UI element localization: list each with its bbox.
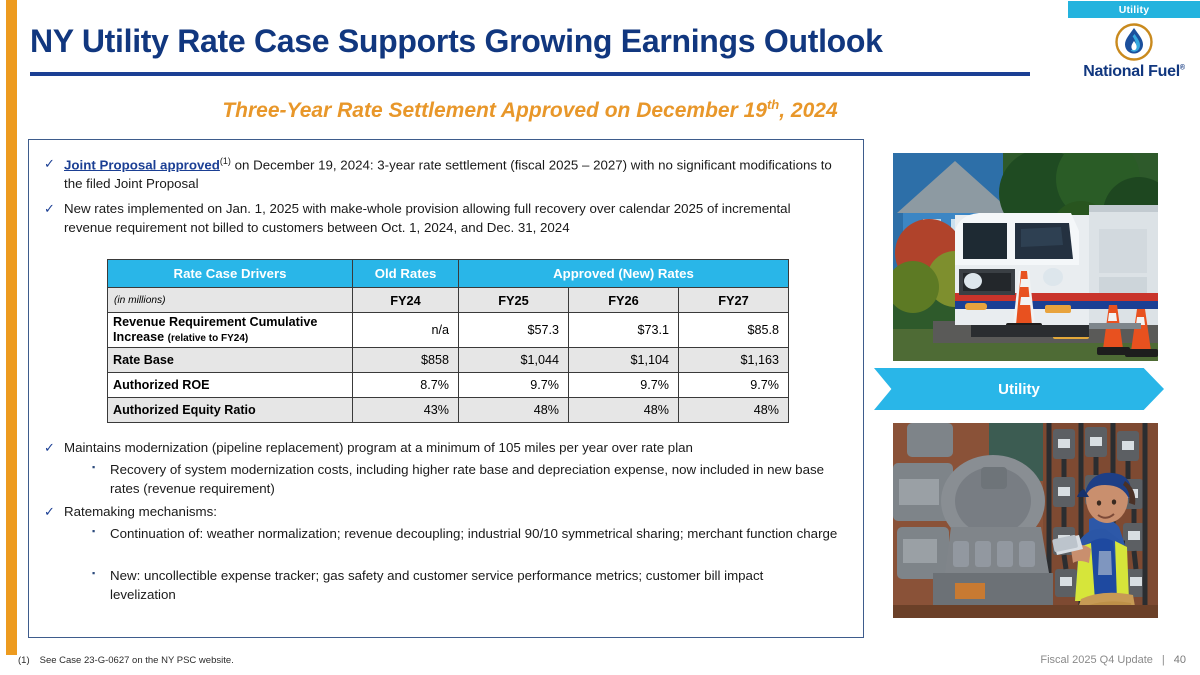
cell-equity-fy27: 48%: [679, 398, 789, 423]
table-row: Revenue Requirement Cumulative Increase …: [108, 313, 789, 348]
utility-segment-label: Utility: [998, 381, 1040, 398]
footer-right: Fiscal 2025 Q4 Update | 40: [1040, 654, 1186, 666]
square-bullet-icon: ▪: [92, 567, 110, 581]
subbullet-continuation-text: Continuation of: weather normalization; …: [110, 525, 837, 544]
row-label-authorized-roe: Authorized ROE: [108, 373, 353, 398]
section-tab-utility[interactable]: Utility: [1068, 1, 1200, 18]
row-label-rate-base: Rate Base: [108, 348, 353, 373]
cell-ratebase-fy26: $1,104: [569, 348, 679, 373]
units-label: (in millions): [108, 288, 353, 313]
bullet-ratemaking-mechanisms: ✓ Ratemaking mechanisms:: [44, 503, 844, 522]
company-logo: National Fuel®: [1070, 22, 1198, 88]
bullet-ratemaking-mechanisms-text: Ratemaking mechanisms:: [64, 503, 217, 522]
header-rate-case-drivers: Rate Case Drivers: [108, 260, 353, 288]
square-bullet-icon: ▪: [92, 525, 110, 539]
title-underline: [30, 72, 1030, 76]
table-row: Rate Base $858 $1,044 $1,104 $1,163: [108, 348, 789, 373]
header-approved-new-rates: Approved (New) Rates: [459, 260, 789, 288]
header-old-rates: Old Rates: [353, 260, 459, 288]
footnote-marker: (1): [18, 655, 30, 666]
cell-revenue-fy25: $57.3: [459, 313, 569, 348]
header-fy27: FY27: [679, 288, 789, 313]
bullet-modernization-text: Maintains modernization (pipeline replac…: [64, 439, 693, 458]
rate-case-table: Rate Case Drivers Old Rates Approved (Ne…: [107, 259, 789, 423]
cell-ratebase-fy27: $1,163: [679, 348, 789, 373]
cell-revenue-fy26: $73.1: [569, 313, 679, 348]
slide: Utility National Fuel® NY Utility Rate C…: [0, 0, 1200, 675]
cell-roe-fy27: 9.7%: [679, 373, 789, 398]
footnote: (1) See Case 23-G-0627 on the NY PSC web…: [18, 655, 234, 666]
checkmark-icon: ✓: [44, 200, 64, 218]
row-label-equity-ratio: Authorized Equity Ratio: [108, 398, 353, 423]
table-group-header-row: Rate Case Drivers Old Rates Approved (Ne…: [108, 260, 789, 288]
footer-divider: |: [1162, 654, 1165, 666]
row-label-revenue-requirement: Revenue Requirement Cumulative Increase …: [108, 313, 353, 348]
bullet-new-rates: ✓ New rates implemented on Jan. 1, 2025 …: [44, 200, 834, 238]
deck-label: Fiscal 2025 Q4 Update: [1040, 654, 1153, 666]
bullet-joint-proposal: ✓ Joint Proposal approved(1) on December…: [44, 155, 844, 194]
logo-wordmark: National Fuel®: [1083, 63, 1184, 81]
subbullet-recovery-costs-text: Recovery of system modernization costs, …: [110, 461, 852, 499]
joint-proposal-link[interactable]: Joint Proposal approved: [64, 157, 220, 172]
cell-roe-fy24: 8.7%: [353, 373, 459, 398]
logo-wordmark-text: National Fuel: [1083, 63, 1180, 80]
cell-equity-fy26: 48%: [569, 398, 679, 423]
table-row: Authorized Equity Ratio 43% 48% 48% 48%: [108, 398, 789, 423]
photo-utility-truck: [893, 153, 1158, 361]
bullet-modernization: ✓ Maintains modernization (pipeline repl…: [44, 439, 844, 458]
table-year-header-row: (in millions) FY24 FY25 FY26 FY27: [108, 288, 789, 313]
utility-segment-banner: Utility: [874, 368, 1164, 410]
page-subtitle: Three-Year Rate Settlement Approved on D…: [30, 97, 1030, 123]
cell-revenue-fy24: n/a: [353, 313, 459, 348]
row-label-note: (relative to FY24): [168, 333, 249, 344]
subbullet-recovery-costs: ▪ Recovery of system modernization costs…: [92, 461, 852, 499]
cell-equity-fy25: 48%: [459, 398, 569, 423]
page-number: 40: [1174, 654, 1186, 666]
subtitle-year: , 2024: [779, 99, 837, 122]
section-tab-label: Utility: [1119, 4, 1150, 16]
subbullet-new-mechanisms-text: New: uncollectible expense tracker; gas …: [110, 567, 832, 605]
national-fuel-flame-icon: [1114, 22, 1154, 62]
cell-revenue-fy27: $85.8: [679, 313, 789, 348]
checkmark-icon: ✓: [44, 439, 64, 457]
header-fy25: FY25: [459, 288, 569, 313]
left-accent-bar: [6, 0, 17, 655]
subbullet-continuation: ▪ Continuation of: weather normalization…: [92, 525, 847, 544]
footnote-ref-1[interactable]: (1): [220, 156, 231, 166]
photo-worker-gas-meters: [893, 423, 1158, 618]
header-fy24: FY24: [353, 288, 459, 313]
cell-ratebase-fy25: $1,044: [459, 348, 569, 373]
subtitle-main: Three-Year Rate Settlement Approved on D…: [222, 99, 767, 122]
cell-roe-fy26: 9.7%: [569, 373, 679, 398]
subbullet-new-mechanisms: ▪ New: uncollectible expense tracker; ga…: [92, 567, 832, 605]
subtitle-ordinal: th: [767, 97, 779, 112]
footnote-text: See Case 23-G-0627 on the NY PSC website…: [40, 655, 234, 666]
cell-roe-fy25: 9.7%: [459, 373, 569, 398]
cell-ratebase-fy24: $858: [353, 348, 459, 373]
page-title: NY Utility Rate Case Supports Growing Ea…: [30, 25, 1010, 59]
logo-registered-mark: ®: [1180, 65, 1185, 72]
cell-equity-fy24: 43%: [353, 398, 459, 423]
bullet-joint-proposal-text: Joint Proposal approved(1) on December 1…: [64, 155, 844, 194]
checkmark-icon: ✓: [44, 155, 64, 173]
square-bullet-icon: ▪: [92, 461, 110, 475]
bullet-new-rates-text: New rates implemented on Jan. 1, 2025 wi…: [64, 200, 834, 238]
table-row: Authorized ROE 8.7% 9.7% 9.7% 9.7%: [108, 373, 789, 398]
checkmark-icon: ✓: [44, 503, 64, 521]
header-fy26: FY26: [569, 288, 679, 313]
